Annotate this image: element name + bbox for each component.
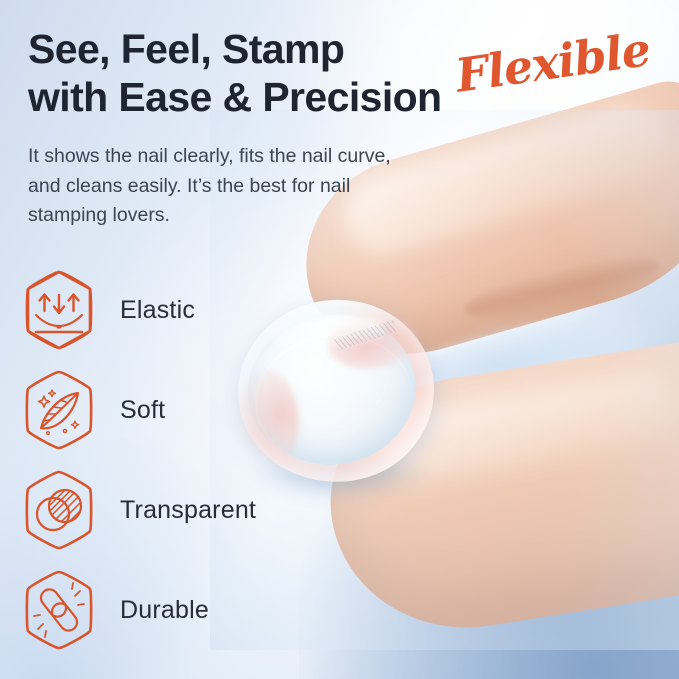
feature-label-durable: Durable <box>120 596 209 625</box>
chain-link-shine-icon <box>20 569 98 651</box>
feature-item-transparent: Transparent <box>20 460 320 560</box>
feature-label-soft: Soft <box>120 396 165 425</box>
subheading-copy: It shows the nail clearly, fits the nail… <box>28 142 428 231</box>
elastic-arrows-icon <box>20 269 98 351</box>
feature-list: Elastic <box>20 260 320 660</box>
overlapping-circles-icon <box>20 469 98 551</box>
feature-label-elastic: Elastic <box>120 296 195 325</box>
feature-label-transparent: Transparent <box>120 496 256 525</box>
feature-item-durable: Durable <box>20 560 320 660</box>
product-feature-graphic: See, Feel, Stamp with Ease & Precision F… <box>0 0 679 679</box>
feather-sparkle-icon <box>20 369 98 451</box>
feature-item-soft: Soft <box>20 360 320 460</box>
feature-item-elastic: Elastic <box>20 260 320 360</box>
